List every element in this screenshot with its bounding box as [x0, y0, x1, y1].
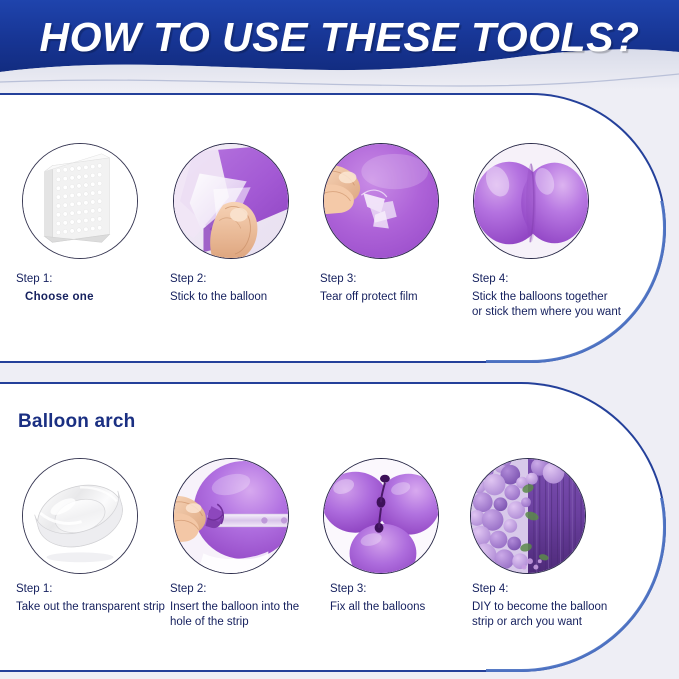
- step-caption: Step 1: Choose one: [16, 272, 94, 305]
- step-label: Step 3:: [320, 272, 418, 287]
- step-text: Insert the balloon into the: [170, 600, 299, 615]
- glue-dot-sheet-image: [22, 143, 138, 259]
- three-balloons-illustration: [324, 459, 438, 573]
- hand-balloon-film-illustration: [174, 144, 288, 258]
- step-text: Take out the transparent strip: [16, 600, 165, 615]
- step-caption: Step 2: Stick to the balloon: [170, 272, 267, 305]
- step-caption: Step 1: Take out the transparent strip: [16, 582, 165, 615]
- glue-dot-sheet-illustration: [23, 144, 137, 258]
- step-label: Step 1:: [16, 272, 94, 287]
- hand-inserting-balloon-into-strip-image: [173, 458, 289, 574]
- step-text-line2: strip or arch you want: [472, 615, 607, 630]
- transparent-strip-roll-image: [22, 458, 138, 574]
- step-caption: Step 3: Tear off protect film: [320, 272, 418, 305]
- step-text: Choose one: [16, 290, 94, 305]
- step-text-line2: hole of the strip: [170, 615, 299, 630]
- step-text: Fix all the balloons: [330, 600, 425, 615]
- step-text: Stick to the balloon: [170, 290, 267, 305]
- hand-tearing-protect-film-image: [323, 143, 439, 259]
- step-label: Step 2:: [170, 582, 299, 597]
- step-text-line2: or stick them where you want: [472, 305, 621, 320]
- two-balloons-stuck-together-image: [473, 143, 589, 259]
- step-label: Step 3:: [330, 582, 425, 597]
- step-text: Stick the balloons together: [472, 290, 621, 305]
- step-label: Step 1:: [16, 582, 165, 597]
- step-label: Step 4:: [472, 272, 621, 287]
- two-balloons-illustration: [474, 144, 588, 258]
- header-banner: HOW TO USE THESE TOOLS?: [0, 0, 679, 90]
- step-caption: Step 4: Stick the balloons together or s…: [472, 272, 621, 320]
- insert-balloon-illustration: [174, 459, 288, 573]
- step-text: DIY to become the balloon: [472, 600, 607, 615]
- step-label: Step 4:: [472, 582, 607, 597]
- tape-roll-illustration: [23, 459, 137, 573]
- step-caption: Step 3: Fix all the balloons: [330, 582, 425, 615]
- balloon-arch-display-illustration: [471, 459, 585, 573]
- hand-sticking-dot-on-balloon-image: [173, 143, 289, 259]
- step-label: Step 2:: [170, 272, 267, 287]
- finished-balloon-arch-display-image: [470, 458, 586, 574]
- three-balloons-fixed-image: [323, 458, 439, 574]
- section-title: Balloon arch: [18, 411, 135, 433]
- step-caption: Step 2: Insert the balloon into the hole…: [170, 582, 299, 630]
- step-text: Tear off protect film: [320, 290, 418, 305]
- step-caption: Step 4: DIY to become the balloon strip …: [472, 582, 607, 630]
- page-title: HOW TO USE THESE TOOLS?: [0, 14, 679, 60]
- tearing-film-illustration: [324, 144, 438, 258]
